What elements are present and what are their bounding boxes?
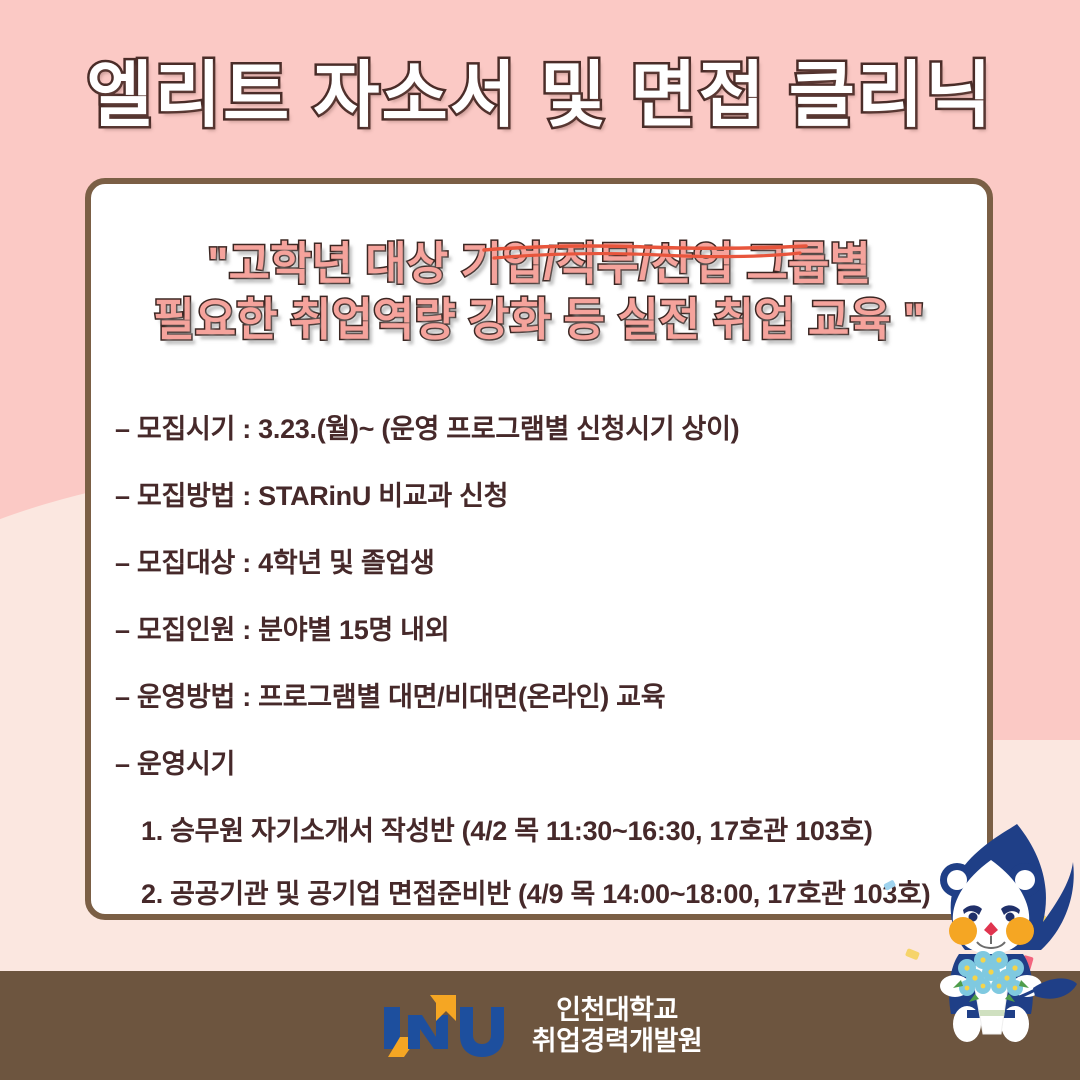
inu-logo-icon [378,989,506,1063]
footer-org-line-1: 인천대학교 [556,995,678,1025]
detail-recruit-count: – 모집인원 : 분야별 15명 내외 [115,608,985,647]
page-title: 엘리트 자소서 및 면접 클리닉 [0,36,1080,141]
program-item-1: 1. 승무원 자기소개서 작성반 (4/2 목 11:30~16:30, 17호… [115,809,985,848]
detail-recruit-method: – 모집방법 : STARinU 비교과 신청 [115,474,985,513]
detail-recruit-period: – 모집시기 : 3.23.(월)~ (운영 프로그램별 신청시기 상이) [115,407,985,446]
headline-quote: "고학년 대상 기업/직무/산업 그룹별 필요한 취업역량 강화 등 실전 취업… [91,236,987,349]
details-list: – 모집시기 : 3.23.(월)~ (운영 프로그램별 신청시기 상이) – … [115,407,985,911]
program-item-2: 2. 공공기관 및 공기업 면접준비반 (4/9 목 14:00~18:00, … [115,872,985,911]
quote-line-2: 필요한 취업역량 강화 등 실전 취업 교육 " [91,292,987,348]
footer-org-name: 인천대학교 취업경력개발원 [532,995,702,1055]
quote-line-1: "고학년 대상 기업/직무/산업 그룹별 [91,236,987,292]
content-card: "고학년 대상 기업/직무/산업 그룹별 필요한 취업역량 강화 등 실전 취업… [85,178,993,920]
detail-operation-schedule: – 운영시기 [115,742,985,781]
detail-recruit-target: – 모집대상 : 4학년 및 졸업생 [115,541,985,580]
detail-operation-method: – 운영방법 : 프로그램별 대면/비대면(온라인) 교육 [115,675,985,714]
footer-org-line-2: 취업경력개발원 [532,1026,702,1056]
blue-bear-mascot-icon [905,818,1080,1068]
poster-root: 엘리트 자소서 및 면접 클리닉 "고학년 대상 기업/직무/산업 그룹별 필요… [0,0,1080,1080]
